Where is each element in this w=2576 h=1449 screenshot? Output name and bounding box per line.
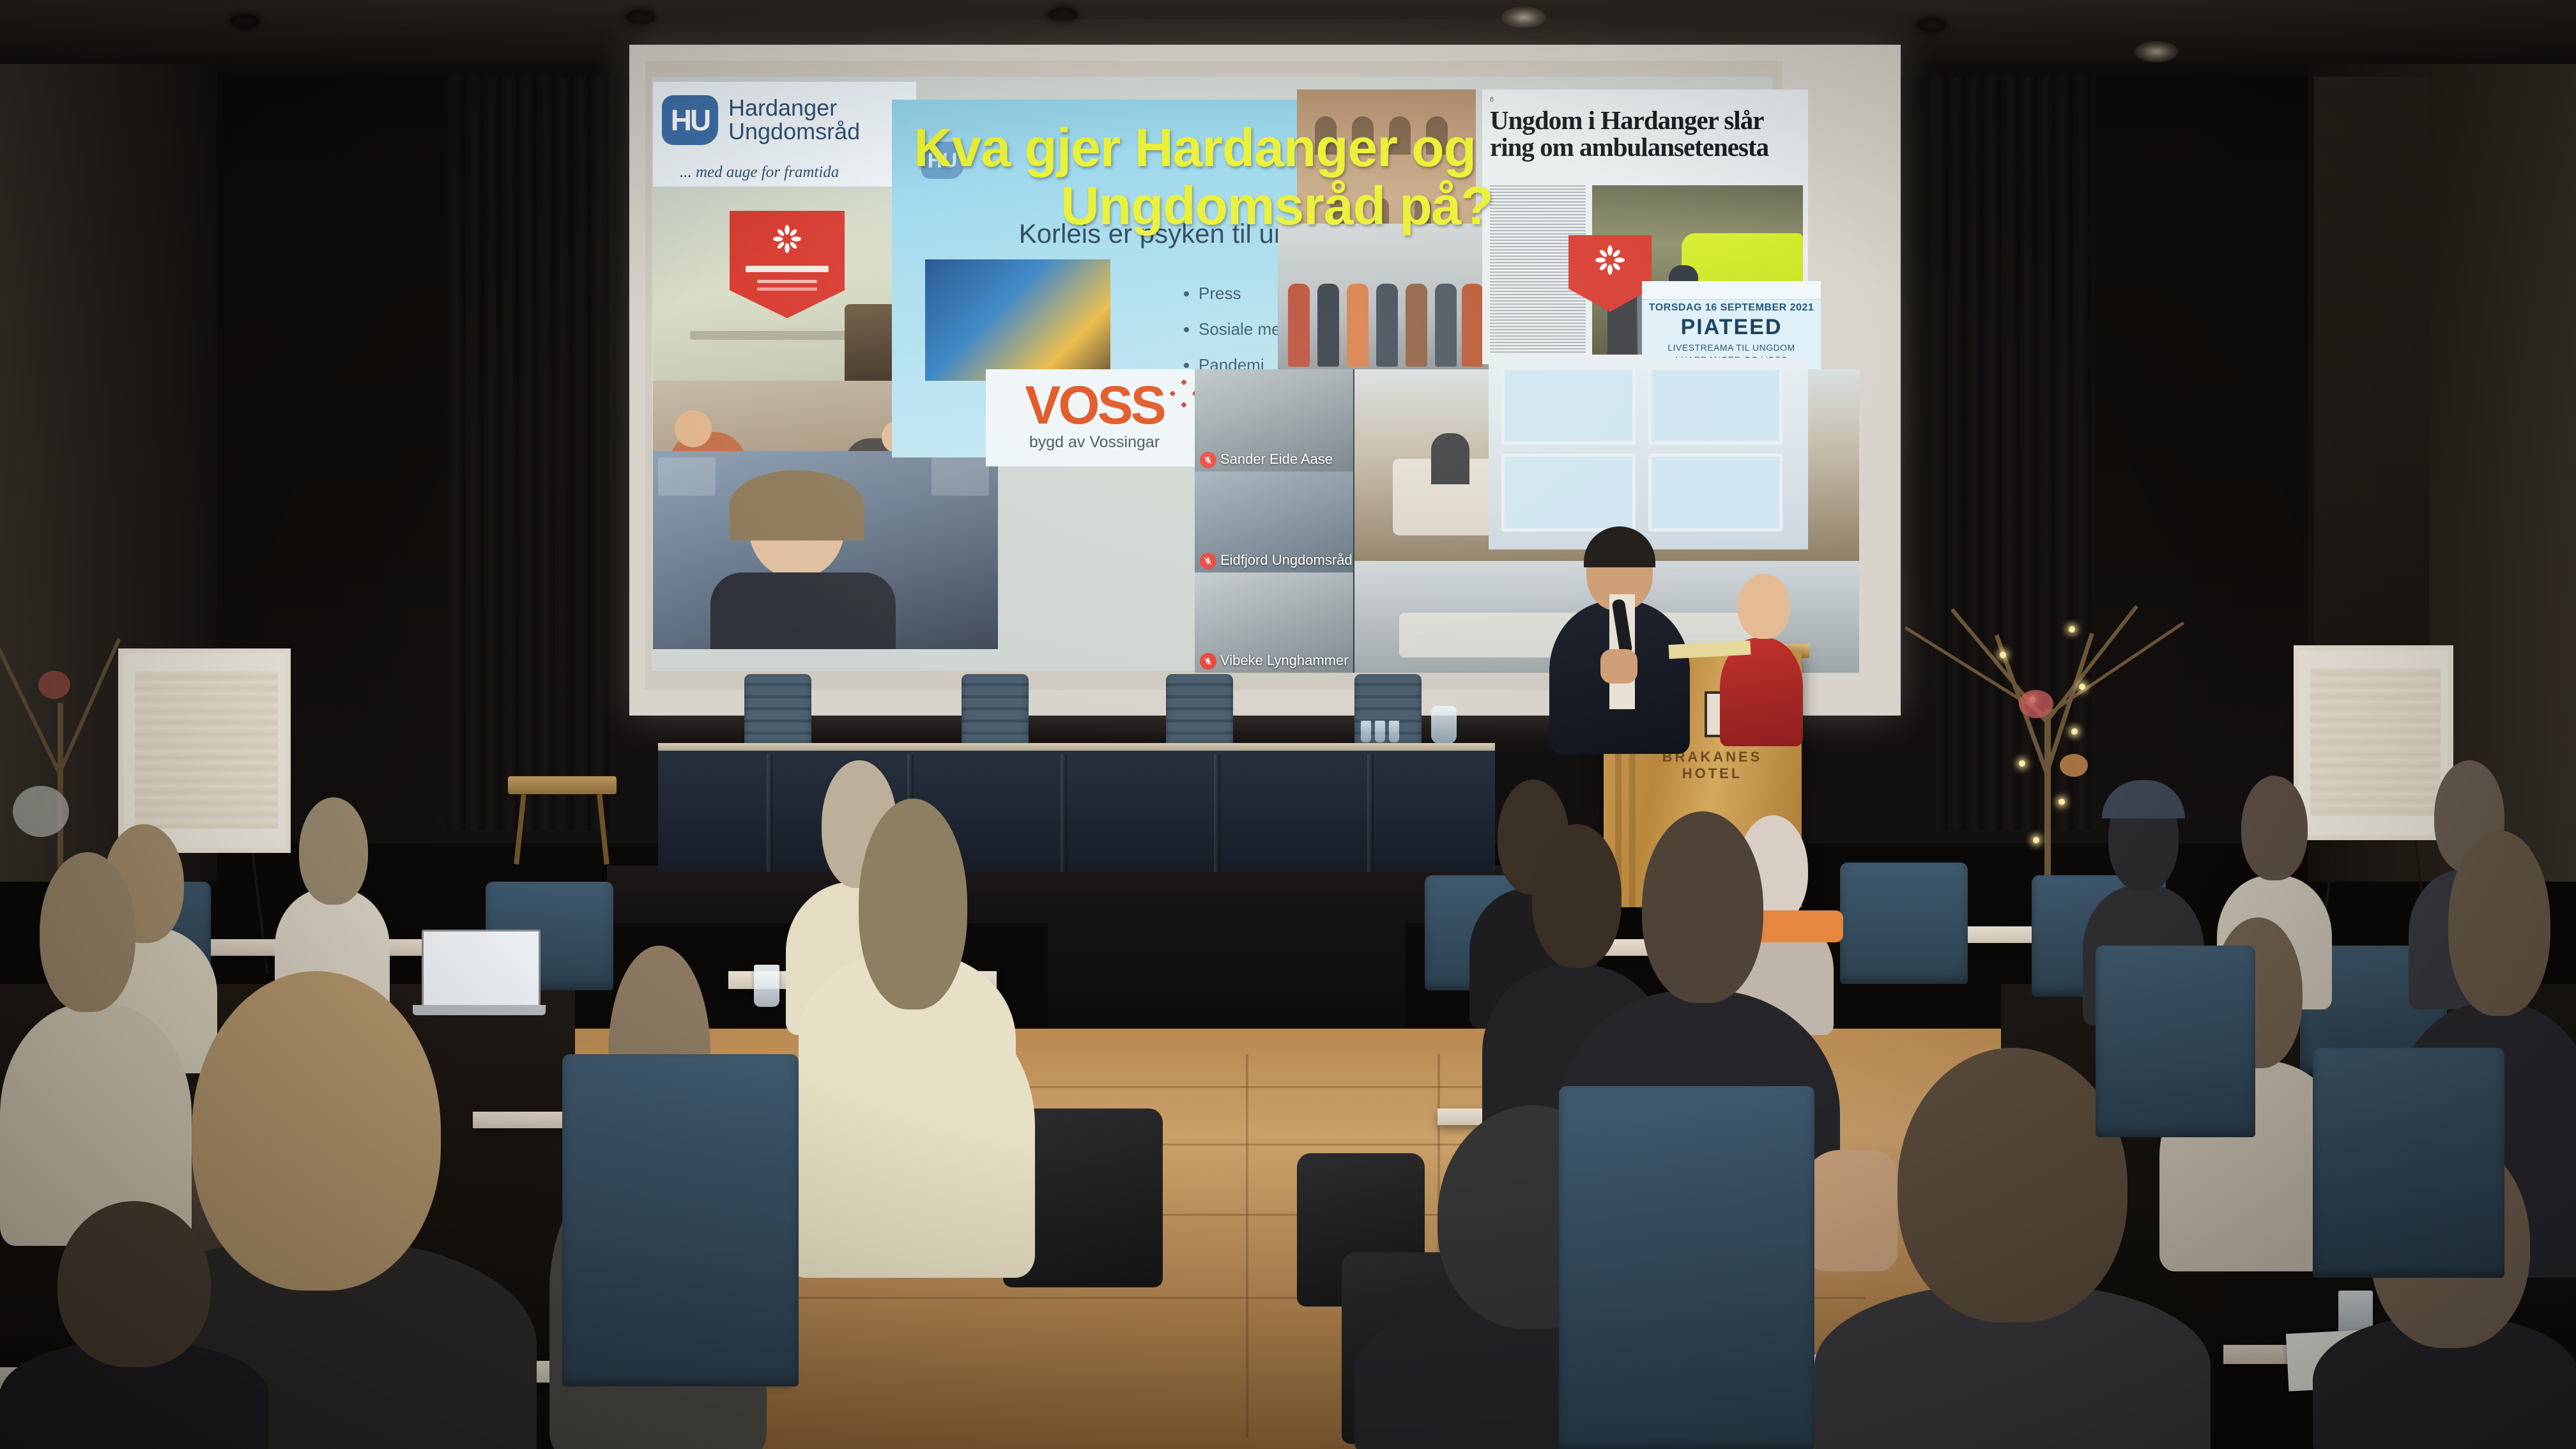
video-participant-name: Vibeke Lynghammer [1220, 652, 1349, 669]
fairy-light [2019, 760, 2025, 767]
ceiling-spot-icon [1048, 8, 1077, 22]
rollup-title-bar [746, 266, 829, 272]
voss-wordmark: VOSS [1025, 384, 1163, 427]
slide-photo-monitor-wall [1489, 358, 1808, 549]
drinking-glass [1361, 721, 1371, 742]
audience-chair-front [2313, 1048, 2504, 1278]
ceiling-spot-icon [1917, 18, 1946, 32]
slide-person-shape [1406, 284, 1427, 367]
panel-chair [1166, 674, 1233, 747]
video-tile-participant: Eidfjord Ungdomsråd [1195, 471, 1353, 572]
audience-person-front [0, 1201, 268, 1449]
rollup-sub-bar [757, 287, 817, 291]
slide-person-shape [1435, 284, 1457, 367]
video-tile-participant: Vibeke Lynghammer [1195, 572, 1353, 673]
ceiling-spot-icon [626, 10, 655, 24]
conference-hall-photo: HU Hardanger Ungdomsråd ... med auge for… [0, 0, 2576, 1449]
fairy-light [2058, 799, 2065, 805]
fairy-light [2069, 626, 2075, 632]
flip-chart-leg [251, 853, 268, 974]
monitor-icon [1648, 367, 1782, 445]
person-head [2241, 776, 2308, 880]
poster-title: PIATEED [1642, 315, 1821, 340]
raised-hand [1802, 1150, 1897, 1271]
person-body [786, 997, 1035, 1278]
hardanger-flower-icon [1595, 245, 1625, 275]
video-participant-name: Sander Eide Aase [1220, 451, 1333, 468]
newspaper-page-number: 6 [1490, 96, 1800, 103]
table-skirt-pleat [1214, 755, 1220, 872]
audience-chair [2096, 946, 2255, 1137]
slide-person-hair [730, 470, 864, 540]
dried-flower [38, 671, 70, 699]
hardanger-rollup-banner [730, 211, 845, 318]
dried-flower [2060, 754, 2088, 777]
voss-diamond-icon [1170, 379, 1198, 408]
poster-subtitle-line1: LIVESTREAMA TIL UNGDOM [1642, 342, 1821, 354]
hu-logo-line1: Hardanger [728, 96, 860, 120]
person-head [1897, 1048, 2127, 1322]
voss-logo: VOSS bygd av Vossingar [986, 369, 1203, 466]
rollup-sub-bar [757, 280, 817, 283]
video-tile-participant: Sander Eide Aase [1195, 369, 1353, 471]
fairy-light [2033, 837, 2039, 843]
monitor-icon [1648, 454, 1782, 532]
person-head [2448, 831, 2550, 1016]
table-skirt-pleat [767, 755, 773, 872]
fairy-light [2000, 652, 2006, 658]
video-participant-name: Eidfjord Ungdomsråd [1220, 552, 1353, 569]
water-carafe [1431, 706, 1457, 744]
speaker-hair [1584, 526, 1655, 567]
slide-logo-mark [658, 457, 716, 496]
voss-tagline: bygd av Vossingar [1029, 433, 1160, 452]
monitor-icon [1501, 367, 1636, 445]
slide-person-shape [1288, 284, 1310, 367]
table-skirt-pleat [1061, 755, 1067, 872]
hu-logo-card: HU Hardanger Ungdomsråd [653, 82, 916, 158]
person-head [859, 799, 967, 1009]
stage-curtain-left [447, 77, 613, 831]
ceiling-light-glow [1501, 6, 1546, 28]
decor-sphere [13, 786, 69, 837]
hardanger-flower-icon [773, 225, 801, 253]
audience-chair [1840, 862, 1968, 984]
slide-person-shape [1317, 284, 1339, 367]
mic-muted-icon [1200, 653, 1216, 670]
ceiling-spot-icon [230, 14, 259, 28]
mic-muted-icon [1200, 553, 1216, 569]
branch-twig [2044, 709, 2051, 901]
person-head [1642, 811, 1763, 1003]
stool-seat [508, 776, 617, 794]
audience-person-front [786, 786, 1035, 1271]
speaker-hand [1600, 649, 1637, 684]
panel-chair [744, 674, 811, 747]
drinking-glass [1375, 721, 1385, 742]
slide-person-body [710, 572, 896, 649]
mic-muted-icon [1200, 452, 1216, 468]
slide-photo-speaker-closeup [653, 451, 998, 649]
table-skirt-pleat [1367, 755, 1374, 872]
slide-person-head [675, 410, 712, 447]
poster-top-bar [1642, 281, 1821, 300]
video-tile-person [1431, 433, 1469, 484]
audience-chair-front [562, 1054, 799, 1386]
slide-photo-youth-group [1278, 224, 1489, 371]
slide-logo-mark [931, 457, 989, 496]
slide-person-shape [1376, 284, 1398, 367]
inner-slide-photo [925, 259, 1110, 381]
ceiling-light-glow [2134, 41, 2179, 63]
branch-twig [0, 640, 61, 774]
slide-headline-line1: Kva gjer Hardanger og [914, 119, 1821, 177]
person-head [299, 797, 368, 905]
slide-person-shape [1462, 284, 1483, 367]
floor-plank-line [1246, 1054, 1248, 1437]
hu-badge-icon: HU [662, 95, 718, 145]
fairy-light [2071, 728, 2078, 735]
slide-headline: Kva gjer Hardanger og Ungdomsråd på? [914, 119, 1821, 234]
hu-logo-tagline: ... med auge for framtida [653, 158, 916, 187]
person-head [57, 1201, 211, 1367]
baseball-cap-icon [2102, 780, 2185, 818]
slide-person-shape [1347, 284, 1368, 367]
speaker-at-podium [1549, 524, 1690, 735]
drinking-glass [1389, 721, 1399, 742]
audience-chair-front [1559, 1086, 1814, 1449]
slide-headline-line2: Ungdomsråd på? [914, 177, 1821, 235]
panel-chair [962, 674, 1029, 747]
dried-flower [2019, 690, 2053, 718]
poster-date: TORSDAG 16 SEPTEMBER 2021 [1642, 302, 1821, 314]
co-speaker-head [1738, 574, 1790, 639]
hu-logo-line2: Ungdomsråd [728, 120, 860, 144]
monitor-icon [1501, 454, 1636, 532]
branch-twig [57, 638, 121, 774]
fairy-light [2079, 684, 2085, 690]
